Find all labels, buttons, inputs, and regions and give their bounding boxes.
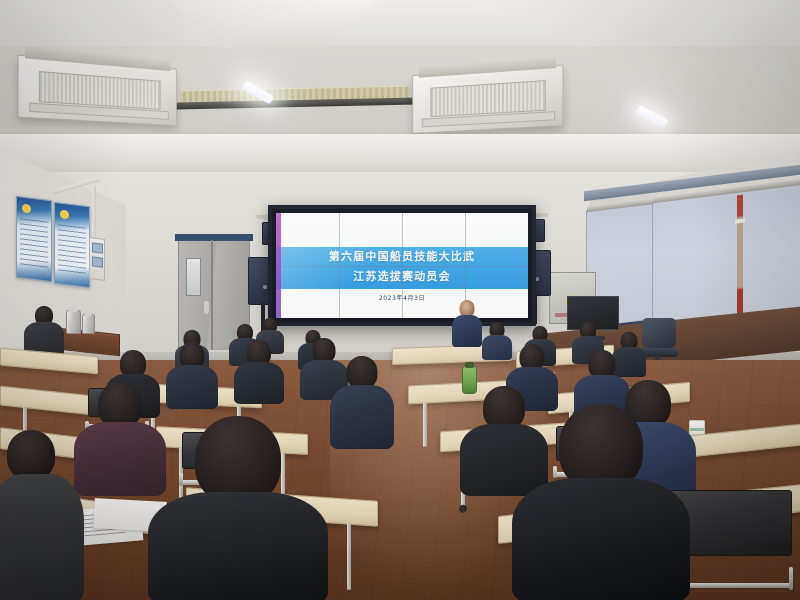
speaker-driver-icon [263, 285, 267, 289]
thermos-lid [69, 306, 78, 312]
door-split [211, 240, 213, 350]
door-vision-panel [186, 258, 201, 296]
metal-thermos-secondary [82, 314, 95, 334]
ceiling-cassette-ac-right [412, 64, 563, 133]
chair-backrest [642, 318, 676, 348]
video-wall-display[interactable]: 第六届中国船员技能大比武 江苏选拔赛动员会 2023年4月3日 [268, 205, 536, 326]
wall-conduit-vertical [92, 186, 96, 242]
attendee-center-aisle [330, 356, 394, 446]
door-handle-icon[interactable] [204, 301, 209, 314]
attendee-foreground-left [0, 430, 86, 600]
attendee-mid-row-c [234, 340, 284, 400]
info-poster-1 [16, 196, 52, 282]
chair-arm [789, 567, 793, 590]
torso [234, 362, 284, 404]
screen-edge-artifact [276, 213, 281, 318]
desk-leg [423, 402, 427, 446]
panel-switch-icon[interactable] [92, 256, 103, 267]
metal-thermos [66, 310, 81, 334]
conference-room-photo: 第六届中国船员技能大比武 江苏选拔赛动员会 2023年4月3日 [0, 0, 800, 600]
ac-grille-icon [430, 80, 545, 117]
attendee-foreground-center [148, 416, 328, 600]
torso [512, 478, 690, 600]
desk-leg [347, 524, 351, 590]
panel-bezel-seam [276, 266, 528, 267]
video-wall-screen: 第六届中国船员技能大比武 江苏选拔赛动员会 2023年4月3日 [276, 213, 528, 318]
attendee-front-left-table [24, 306, 64, 354]
wall-control-panel[interactable] [89, 237, 105, 281]
poster-emblem-icon [22, 203, 31, 213]
ceiling [0, 0, 800, 186]
speaker-bracket [534, 213, 548, 217]
poster-emblem-icon [60, 209, 69, 219]
head [7, 430, 55, 480]
torso [148, 492, 328, 600]
torso [330, 385, 394, 449]
panel-switch-icon[interactable] [92, 242, 103, 253]
ceiling-cassette-ac-left [17, 55, 176, 126]
presenter-torso [452, 315, 482, 347]
presenter-at-front [452, 300, 482, 344]
torso [166, 365, 218, 409]
info-poster-2 [54, 202, 90, 288]
attendee-foreground-right [512, 404, 690, 600]
attendee-mid-row-navy [166, 342, 218, 404]
thermos-lid [85, 310, 93, 316]
poster-text-block [20, 218, 47, 271]
poster-text-block [58, 224, 85, 277]
torso [0, 474, 84, 600]
head [195, 416, 281, 504]
bottle-cap [465, 362, 473, 368]
blind-pull-strap[interactable] [737, 195, 743, 324]
ceiling-soffit [0, 0, 800, 46]
door-header [175, 234, 253, 241]
